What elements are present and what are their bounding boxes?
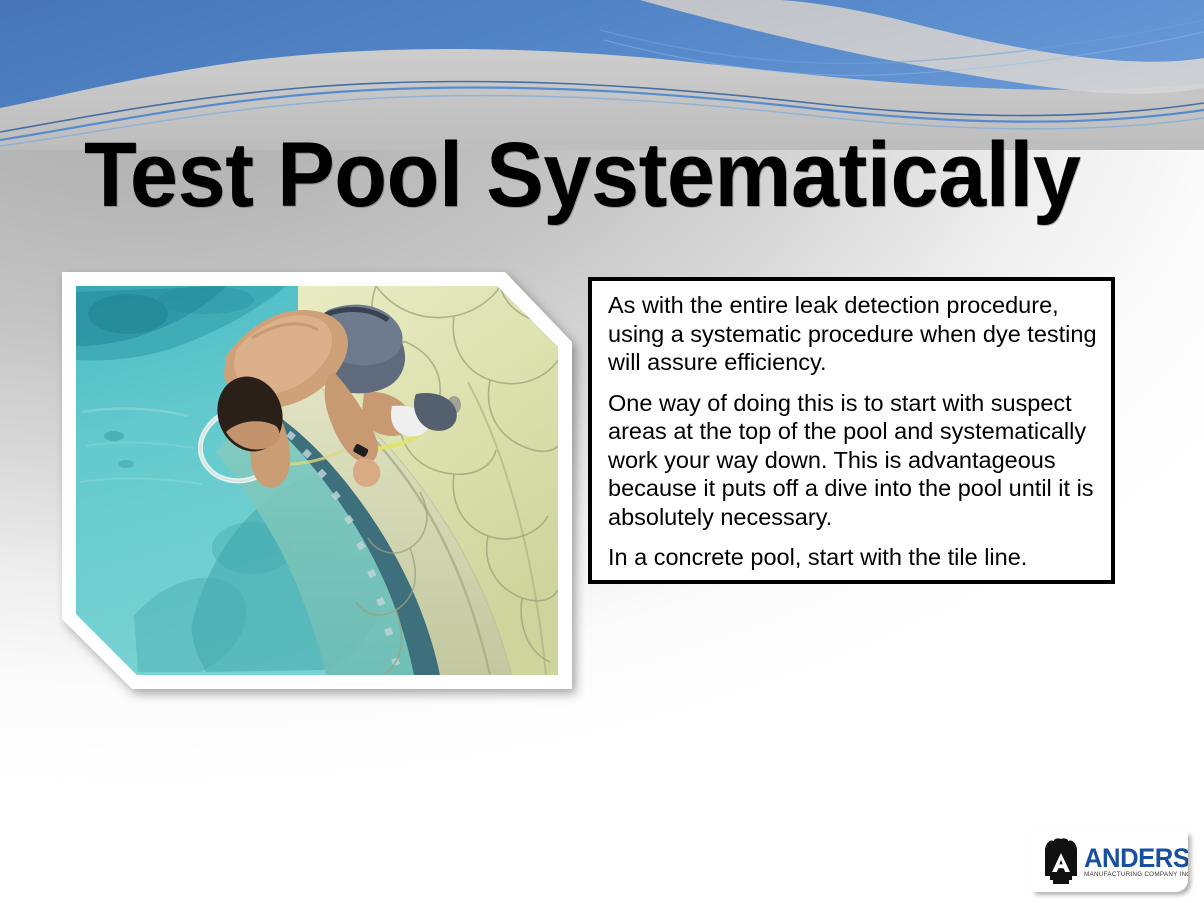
logo-text-group: ANDERSON MANUFACTURING COMPANY INC. bbox=[1084, 846, 1188, 879]
logo-company-name: ANDERSON bbox=[1084, 846, 1188, 871]
anderson-shield-icon bbox=[1040, 838, 1082, 886]
body-paragraph-3: In a concrete pool, start with the tile … bbox=[608, 543, 1097, 572]
body-paragraph-1: As with the entire leak detection proced… bbox=[608, 291, 1097, 377]
anderson-logo[interactable]: ANDERSON MANUFACTURING COMPANY INC. bbox=[1032, 832, 1188, 892]
pool-dye-test-photo bbox=[76, 286, 558, 675]
body-paragraph-2: One way of doing this is to start with s… bbox=[608, 389, 1097, 532]
page-title: Test Pool Systematically bbox=[84, 129, 1062, 221]
body-text-box: As with the entire leak detection proced… bbox=[588, 277, 1115, 584]
photo-container[interactable] bbox=[62, 272, 572, 689]
presentation-slide: Test Pool Systematically bbox=[0, 0, 1204, 903]
logo-tagline: MANUFACTURING COMPANY INC. bbox=[1084, 872, 1188, 879]
